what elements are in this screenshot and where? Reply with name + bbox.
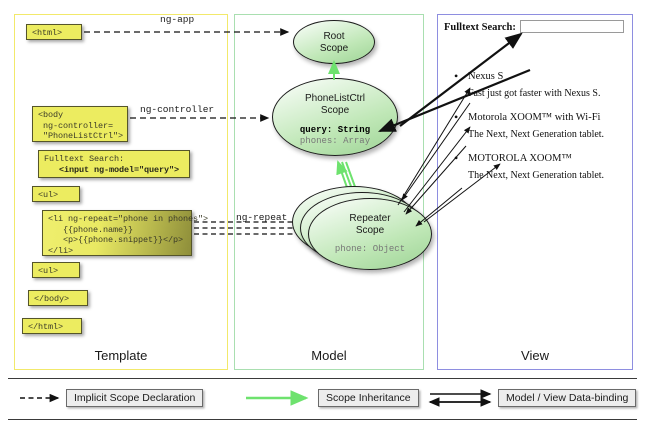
scope-repeater[interactable]: Repeater Scope phone: Object <box>308 198 432 270</box>
scope-root-inner: Root Scope <box>294 21 374 55</box>
template-box-body-close[interactable]: </body> <box>28 290 88 306</box>
view-phone-name: Nexus S <box>444 70 628 84</box>
search-markup-input: <input ng-model="query"> <box>44 165 179 175</box>
view-phone-name: Motorola XOOM™ with Wi-Fi <box>444 111 628 125</box>
legend-label-scope-inheritance: Scope Inheritance <box>318 389 419 407</box>
column-label-view: View <box>438 348 632 363</box>
template-box-body-controller[interactable]: <body ng-controller= "PhoneListCtrl"> <box>32 106 128 142</box>
column-label-template: Template <box>15 348 227 363</box>
view-search-input[interactable] <box>520 20 624 33</box>
diagram-canvas: Template Model View <box>0 0 645 425</box>
edge-label-ng-app: ng-app <box>160 14 194 25</box>
legend-label-model-view-data-binding: Model / View Data-binding <box>498 389 636 407</box>
template-box-html-open[interactable]: <html> <box>26 24 82 40</box>
scope-root[interactable]: Root Scope <box>293 20 375 64</box>
view-phone-list: Nexus S Fast just got faster with Nexus … <box>444 70 628 193</box>
edge-label-ng-repeat: ng-repeat <box>236 212 287 223</box>
scope-repeater-title-1: Repeater <box>309 213 431 225</box>
edge-label-ng-controller: ng-controller <box>140 104 214 115</box>
column-label-model: Model <box>235 348 423 363</box>
template-box-html-close[interactable]: </html> <box>22 318 82 334</box>
template-box-fulltext-search[interactable]: Fulltext Search: <input ng-model="query"… <box>38 150 190 178</box>
template-box-li-ng-repeat[interactable]: <li ng-repeat="phone in phones"> {{phone… <box>42 210 192 256</box>
scope-prop-query: query: String <box>273 125 397 136</box>
view-phone-snippet: Fast just got faster with Nexus S. <box>444 87 628 101</box>
legend-label-implicit-scope-declaration: Implicit Scope Declaration <box>66 389 203 407</box>
view-search-label: Fulltext Search: <box>444 22 516 33</box>
scope-root-title-2: Scope <box>294 43 374 55</box>
scope-repeater-inner: Repeater Scope phone: Object <box>309 199 431 255</box>
scope-phonelistctrl-title-1: PhoneListCtrl <box>273 93 397 105</box>
view-phone-snippet: The Next, Next Generation tablet. <box>444 169 628 183</box>
template-box-ul-close[interactable]: <ul> <box>32 262 80 278</box>
view-phone-snippet: The Next, Next Generation tablet. <box>444 128 628 142</box>
legend-glyph-double-arrow <box>430 394 490 402</box>
search-markup-label: Fulltext Search: <box>44 154 124 164</box>
scope-prop-phones: phones: Array <box>273 136 397 147</box>
view-panel: Fulltext Search: Nexus S Fast just got f… <box>444 20 628 240</box>
scope-phonelistctrl-inner: PhoneListCtrl Scope query: String phones… <box>273 79 397 147</box>
legend-bottom-divider <box>8 419 637 420</box>
view-phone-name: MOTOROLA XOOM™ <box>444 152 628 166</box>
scope-phonelistctrl-title-2: Scope <box>273 105 397 117</box>
template-box-ul-open[interactable]: <ul> <box>32 186 80 202</box>
scope-prop-phone: phone: Object <box>309 244 431 255</box>
scope-root-title-1: Root <box>294 31 374 43</box>
scope-phonelistctrl[interactable]: PhoneListCtrl Scope query: String phones… <box>272 78 398 156</box>
scope-repeater-title-2: Scope <box>309 225 431 237</box>
legend-top-divider <box>8 378 637 379</box>
